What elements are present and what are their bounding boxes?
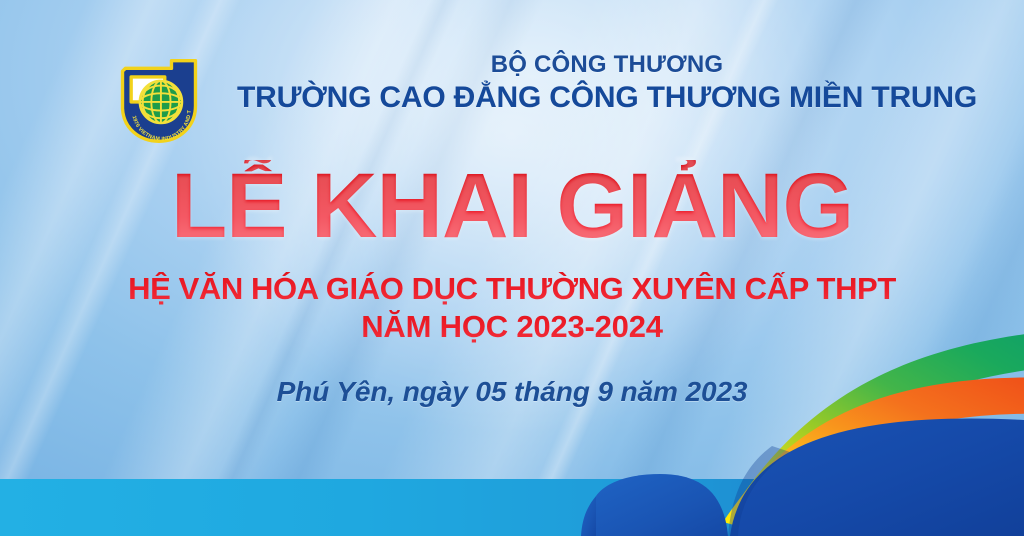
school-year-subtitle: NĂM HỌC 2023-2024	[0, 310, 1024, 343]
ministry-emblem-icon: 1976 VIETNAM INDUSTRY AND TRADE	[111, 52, 207, 148]
event-date: Phú Yên, ngày 05 tháng 9 năm 2023	[0, 376, 1024, 408]
institution-name: TRƯỜNG CAO ĐẲNG CÔNG THƯƠNG MIỀN TRUNG	[220, 82, 994, 114]
event-banner: 1976 VIETNAM INDUSTRY AND TRADE BỘ CÔNG …	[0, 0, 1024, 536]
banner-header: BỘ CÔNG THƯƠNG TRƯỜNG CAO ĐẲNG CÔNG THƯƠ…	[220, 52, 994, 114]
organization-name: BỘ CÔNG THƯƠNG	[220, 52, 994, 77]
bottom-color-band	[0, 479, 1024, 536]
institution-logo: 1976 VIETNAM INDUSTRY AND TRADE	[111, 52, 207, 148]
event-title: LỄ KHAI GIẢNG	[0, 160, 1024, 252]
program-subtitle: HỆ VĂN HÓA GIÁO DỤC THƯỜNG XUYÊN CẤP THP…	[0, 272, 1024, 305]
